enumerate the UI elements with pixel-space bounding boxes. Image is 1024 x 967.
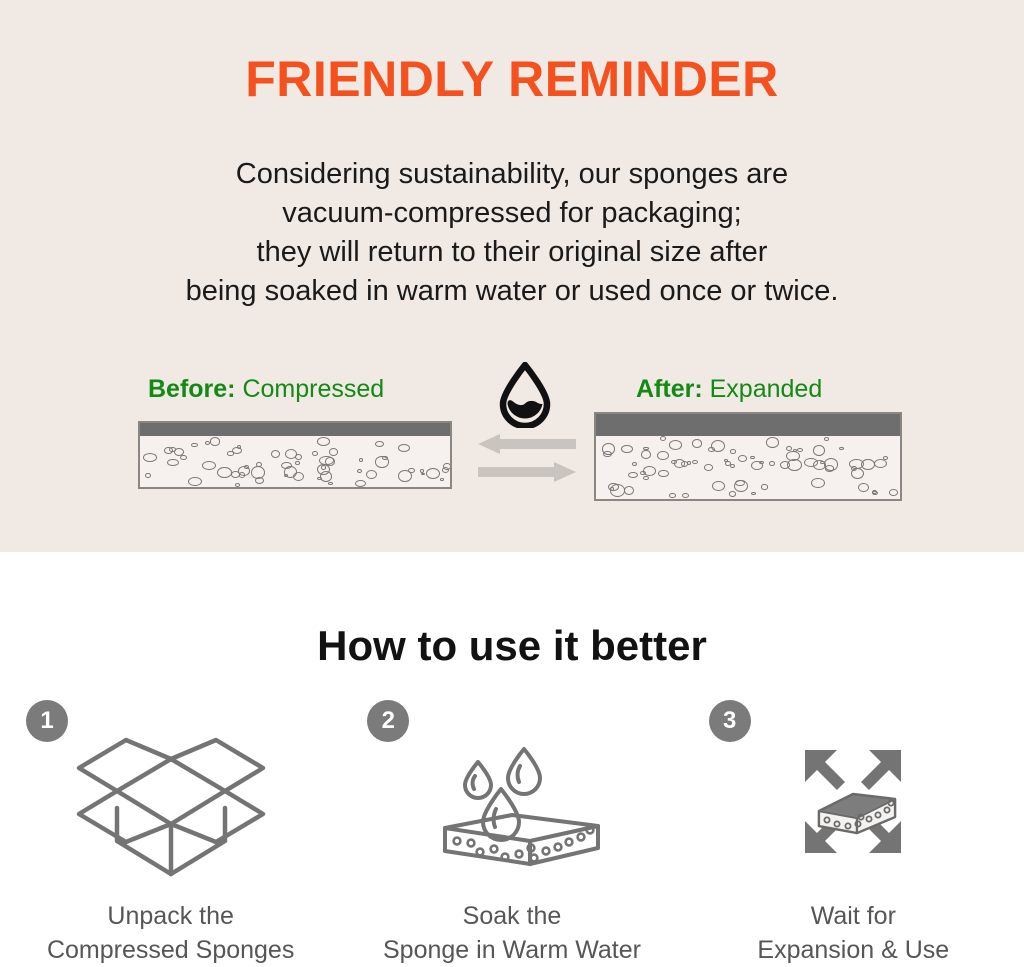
page-title: FRIENDLY REMINDER: [0, 50, 1024, 108]
step-number-badge: 3: [709, 700, 751, 742]
before-label: Before: Compressed: [148, 375, 384, 404]
step-caption-line: Wait for: [757, 899, 949, 933]
after-label: After: Expanded: [636, 375, 822, 404]
open-box-icon: [71, 714, 271, 889]
expanding-sponge-arrows-icon: [753, 714, 953, 889]
step-caption: Wait for Expansion & Use: [757, 899, 949, 967]
sponge-top-surface: [140, 423, 450, 436]
step-caption: Unpack the Compressed Sponges: [47, 899, 294, 967]
how-to-use-panel: How to use it better 1: [0, 552, 1024, 967]
friendly-reminder-panel: FRIENDLY REMINDER Considering sustainabi…: [0, 0, 1024, 552]
step-caption: Soak the Sponge in Warm Water: [383, 899, 641, 967]
step-caption-line: Unpack the: [47, 899, 294, 933]
reminder-body-line: vacuum-compressed for packaging;: [0, 194, 1024, 233]
steps-row: 1 Unpack t: [0, 700, 1024, 967]
reminder-body-line: Considering sustainability, our sponges …: [0, 155, 1024, 194]
compressed-sponge-graphic: [138, 421, 452, 489]
product-infographic: FRIENDLY REMINDER Considering sustainabi…: [0, 0, 1024, 967]
step-item: 2: [341, 700, 682, 967]
reminder-body-line: being soaked in warm water or used once …: [0, 272, 1024, 311]
before-label-strong: Before:: [148, 375, 236, 403]
step-caption-line: Compressed Sponges: [47, 933, 294, 967]
before-label-value: Compressed: [242, 375, 384, 403]
reminder-body-line: they will return to their original size …: [0, 233, 1024, 272]
water-drops-on-sponge-icon: [412, 714, 612, 889]
step-number-badge: 1: [26, 700, 68, 742]
step-item: 1 Unpack t: [0, 700, 341, 967]
step-item: 3: [683, 700, 1024, 967]
howto-title: How to use it better: [0, 622, 1024, 670]
sponge-top-surface: [596, 414, 900, 436]
step-caption-line: Soak the: [383, 899, 641, 933]
after-label-value: Expanded: [710, 375, 823, 403]
step-caption-line: Expansion & Use: [757, 933, 949, 967]
reminder-body-text: Considering sustainability, our sponges …: [0, 155, 1024, 311]
step-caption-line: Sponge in Warm Water: [383, 933, 641, 967]
step-number-badge: 2: [367, 700, 409, 742]
transfer-arrows-icon: [478, 434, 576, 482]
after-label-strong: After:: [636, 375, 703, 403]
expanded-sponge-graphic: [594, 412, 902, 501]
water-drop-icon: [496, 362, 554, 428]
